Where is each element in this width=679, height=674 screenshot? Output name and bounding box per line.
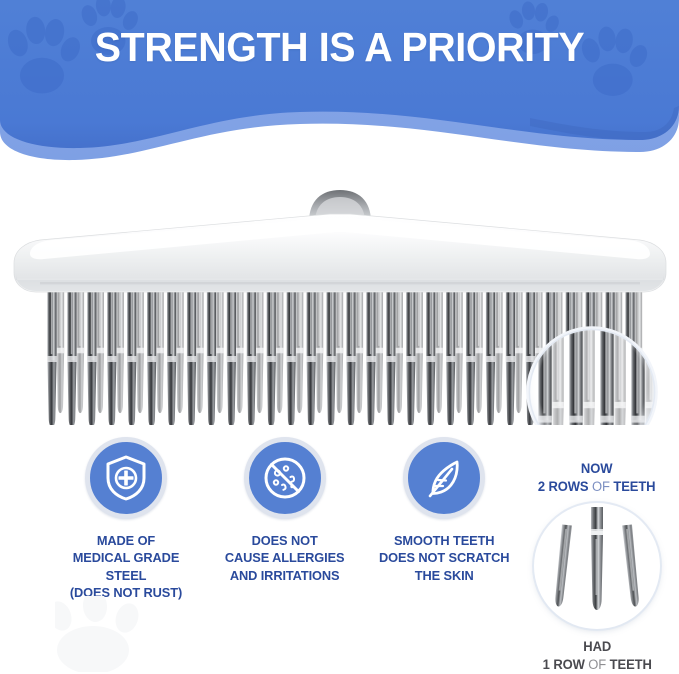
paw-print-icon — [55, 596, 165, 672]
no-allergens-badge — [244, 437, 326, 519]
feature-item-no-allergies: DOES NOT CAUSE ALLERGIES AND IRRITATIONS — [214, 437, 356, 584]
callout-now-rows: 2 ROWS — [538, 479, 589, 494]
callout-had-of: OF — [585, 657, 610, 672]
callout-now-lens — [534, 325, 660, 451]
callout-had-line1: HAD — [542, 638, 651, 656]
callout-had: HAD 1 ROW OF TEETH — [512, 503, 679, 674]
callout-now: NOW 2 ROWS OF TEETH — [512, 325, 679, 496]
feature-caption: MADE OF MEDICAL GRADE STEEL (DOES NOT RU… — [57, 532, 195, 602]
feature-item-smooth-teeth: SMOOTH TEETH DOES NOT SCRATCH THE SKIN — [373, 437, 515, 584]
feather-badge — [403, 437, 485, 519]
shield-plus-icon — [103, 454, 149, 502]
callout-had-teeth: TEETH — [609, 657, 651, 672]
feature-caption: DOES NOT CAUSE ALLERGIES AND IRRITATIONS — [225, 532, 345, 584]
no-allergens-icon — [262, 455, 308, 501]
features-row: MADE OF MEDICAL GRADE STEEL (DOES NOT RU… — [55, 437, 515, 602]
page-title: STRENGTH IS A PRIORITY — [14, 27, 666, 68]
feature-item-medical-steel: MADE OF MEDICAL GRADE STEEL (DOES NOT RU… — [55, 437, 197, 602]
callout-had-line2: 1 ROW OF TEETH — [542, 656, 651, 674]
feature-caption: SMOOTH TEETH DOES NOT SCRATCH THE SKIN — [379, 532, 509, 584]
callout-now-line2: 2 ROWS OF TEETH — [538, 478, 656, 496]
feather-icon — [421, 455, 467, 501]
callout-had-text: HAD 1 ROW OF TEETH — [542, 638, 651, 674]
header-banner: STRENGTH IS A PRIORITY — [0, 0, 679, 175]
shield-plus-badge — [85, 437, 167, 519]
single-row-teeth-graphic — [534, 503, 660, 629]
callout-now-text: NOW 2 ROWS OF TEETH — [538, 460, 656, 496]
callout-now-of: OF — [589, 479, 614, 494]
callout-now-line1: NOW — [538, 460, 656, 478]
callout-had-rows: 1 ROW — [542, 657, 584, 672]
callout-had-lens — [534, 503, 660, 629]
callout-now-teeth: TEETH — [614, 479, 656, 494]
comb-head — [14, 214, 666, 292]
